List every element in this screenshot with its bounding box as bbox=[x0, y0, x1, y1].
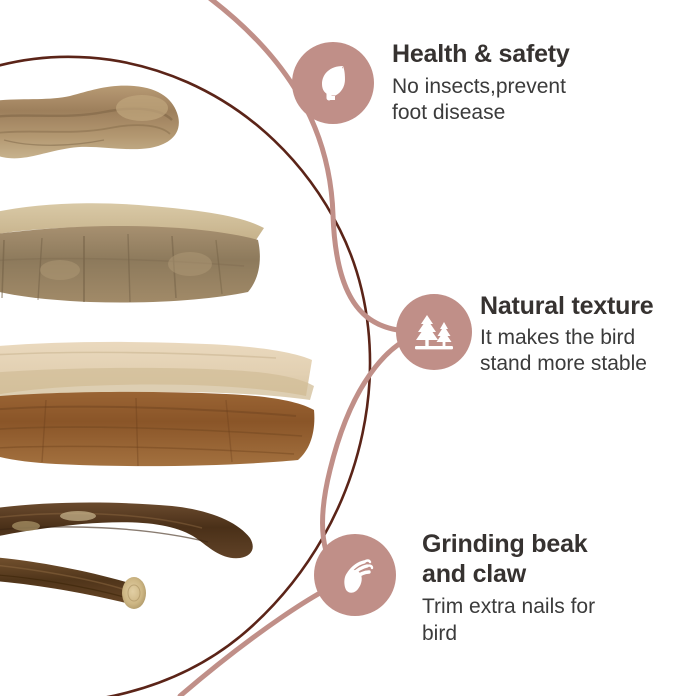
feature-title-health-safety: Health & safety bbox=[392, 40, 662, 70]
pine-trees-icon bbox=[410, 308, 458, 356]
feature-icon-health-safety bbox=[292, 42, 374, 124]
feature-icon-grinding-beak-and-claw bbox=[314, 534, 396, 616]
wood-plank-photo bbox=[0, 338, 328, 470]
feature-text-natural-texture: Natural texture It makes the bird stand … bbox=[480, 292, 679, 378]
feature-icon-natural-texture bbox=[396, 294, 472, 370]
feature-description-natural-texture: It makes the bird stand more stable bbox=[480, 325, 679, 379]
feature-description-grinding-beak-and-claw: Trim extra nails for bird bbox=[422, 594, 678, 648]
wood-stick-lower-photo bbox=[0, 548, 174, 610]
product-feature-infographic: Health & safety No insects,prevent foot … bbox=[0, 0, 679, 696]
feature-description-health-safety: No insects,prevent foot disease bbox=[392, 74, 662, 128]
wood-slab-photo bbox=[0, 196, 280, 314]
feature-title-grinding-beak-and-claw: Grinding beak and claw bbox=[422, 530, 678, 589]
feature-text-health-safety: Health & safety No insects,prevent foot … bbox=[392, 40, 662, 127]
leaf-icon bbox=[310, 60, 356, 106]
feature-text-grinding-beak-and-claw: Grinding beak and claw Trim extra nails … bbox=[422, 530, 678, 648]
wood-branch-photo bbox=[0, 78, 222, 166]
bird-claw-icon bbox=[331, 551, 379, 599]
product-photo-collage bbox=[0, 0, 340, 696]
feature-title-natural-texture: Natural texture bbox=[480, 292, 679, 322]
